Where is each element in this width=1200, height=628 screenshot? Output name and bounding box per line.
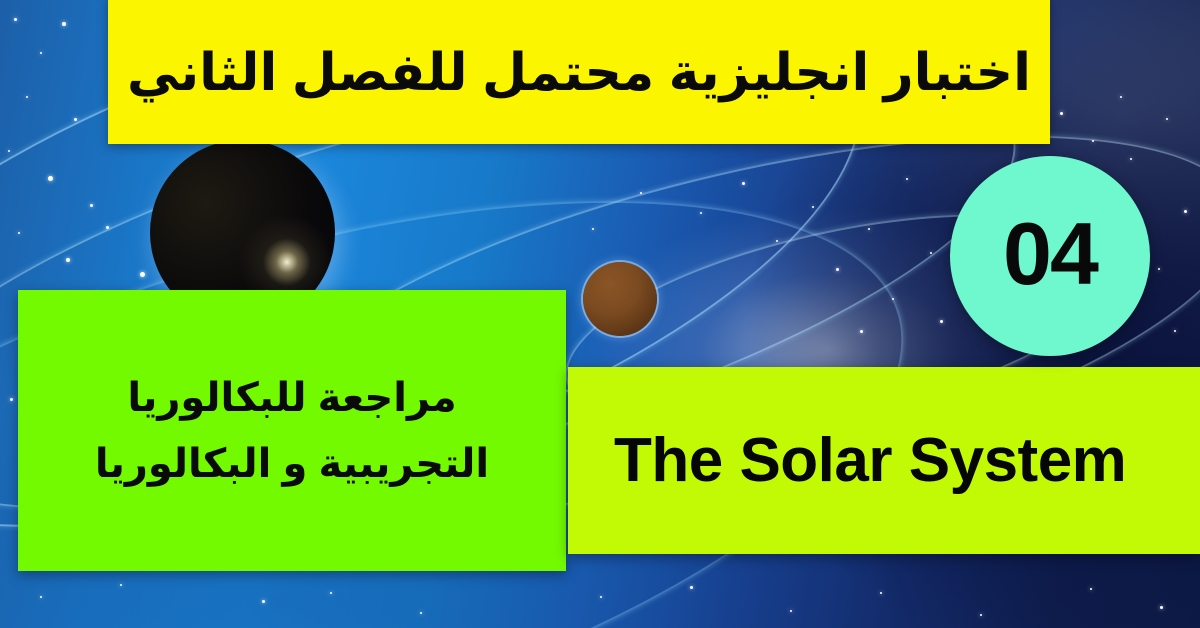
star-point: [1160, 606, 1163, 609]
star-point: [1184, 210, 1187, 213]
star-point: [1158, 268, 1160, 270]
star-point: [40, 596, 42, 598]
star-point: [8, 150, 10, 152]
star-point: [48, 176, 53, 181]
star-point: [812, 206, 814, 208]
thumbnail-canvas: اختبار انجليزية محتمل للفصل الثاني مراجع…: [0, 0, 1200, 628]
arabic-title-banner: اختبار انجليزية محتمل للفصل الثاني: [108, 0, 1050, 144]
star-point: [1090, 588, 1092, 590]
star-point: [860, 330, 863, 333]
star-point: [892, 298, 894, 300]
star-point: [742, 182, 745, 185]
subtitle-line-2: التجريبية و البكالوريا: [95, 440, 489, 488]
star-point: [62, 22, 66, 26]
star-point: [1092, 140, 1094, 142]
star-point: [330, 592, 332, 594]
star-point: [776, 240, 778, 242]
star-point: [690, 586, 693, 589]
star-point: [120, 584, 122, 586]
star-point: [1130, 158, 1132, 160]
star-point: [880, 592, 882, 594]
star-point: [14, 18, 17, 21]
star-point: [18, 232, 20, 234]
star-point: [1174, 330, 1176, 332]
star-point: [592, 228, 594, 230]
star-point: [420, 612, 422, 614]
star-point: [26, 96, 28, 98]
lesson-number-badge: 04: [950, 156, 1150, 356]
star-point: [868, 228, 870, 230]
star-point: [40, 52, 42, 54]
star-point: [600, 596, 602, 598]
arabic-subtitle-banner: مراجعة للبكالوريا التجريبية و البكالوريا: [18, 290, 566, 571]
topic-title: The Solar System: [568, 425, 1126, 496]
star-point: [790, 610, 792, 612]
star-point: [140, 272, 145, 277]
star-point: [1120, 96, 1122, 98]
star-point: [1060, 112, 1063, 115]
star-point: [90, 204, 93, 207]
subtitle-line-1: مراجعة للبكالوريا: [127, 374, 456, 422]
brown-planet-icon: [583, 262, 657, 336]
star-point: [640, 192, 642, 194]
star-point: [836, 268, 839, 271]
star-point: [66, 258, 70, 262]
star-point: [906, 178, 908, 180]
star-point: [930, 252, 932, 254]
star-point: [262, 600, 265, 603]
english-topic-banner: The Solar System: [568, 367, 1200, 554]
star-point: [980, 614, 982, 616]
star-point: [106, 226, 109, 229]
page-title: اختبار انجليزية محتمل للفصل الثاني: [127, 36, 1031, 104]
star-point: [74, 118, 77, 121]
star-point: [700, 212, 702, 214]
lesson-number-text: 04: [1003, 210, 1097, 302]
star-point: [10, 398, 13, 401]
star-point: [940, 320, 943, 323]
star-point: [1166, 118, 1168, 120]
